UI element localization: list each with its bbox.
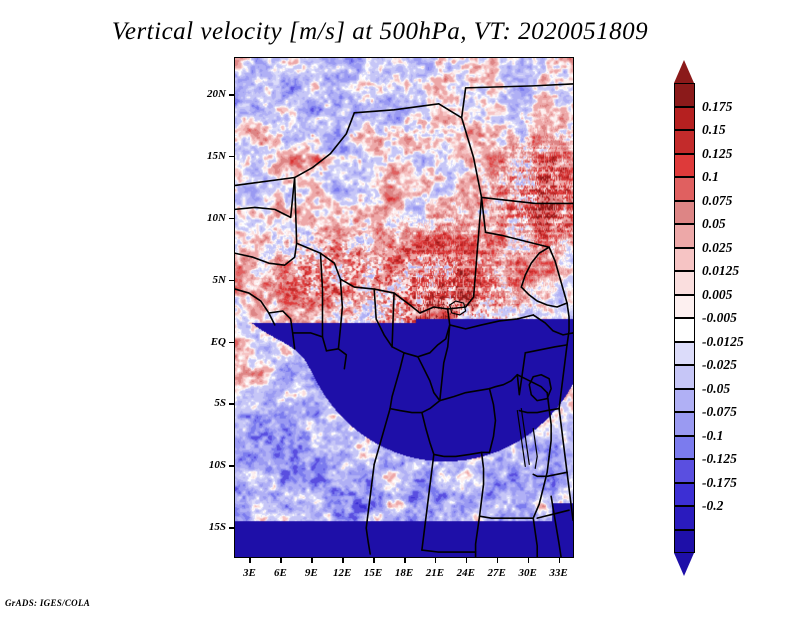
colorbar-band	[674, 318, 695, 342]
lon-tick-mark	[280, 558, 282, 563]
lon-tick-label: 33E	[549, 567, 567, 579]
colorbar-band	[674, 342, 695, 366]
lat-tick-label: 5S	[188, 397, 226, 409]
lat-tick-mark	[229, 94, 234, 96]
colorbar-tick-label: 0.05	[702, 216, 726, 232]
lon-tick-mark	[528, 558, 530, 563]
lat-tick-label: EQ	[188, 336, 226, 348]
colorbar-tick-label: 0.125	[702, 146, 732, 162]
colorbar-tick-label: 0.005	[702, 287, 732, 303]
colorbar-tick-label: 0.1	[702, 169, 719, 185]
lat-tick-label: 20N	[188, 88, 226, 100]
lon-tick-mark	[373, 558, 375, 563]
colorbar-tick-label: -0.175	[702, 475, 737, 491]
colorbar-tick-label: -0.2	[702, 498, 723, 514]
lon-tick-label: 3E	[243, 567, 256, 579]
colorbar-tick-label: 0.075	[702, 193, 732, 209]
lon-tick-mark	[342, 558, 344, 563]
lon-tick-mark	[435, 558, 437, 563]
lon-tick-label: 30E	[518, 567, 536, 579]
colorbar-band	[674, 154, 695, 178]
lon-tick-label: 15E	[364, 567, 382, 579]
lat-tick-mark	[229, 280, 234, 282]
lon-tick-mark	[404, 558, 406, 563]
lat-tick-label: 10N	[188, 212, 226, 224]
colorbar-band	[674, 271, 695, 295]
lat-tick-mark	[229, 465, 234, 467]
lon-tick-label: 24E	[457, 567, 475, 579]
lat-tick-mark	[229, 403, 234, 405]
lon-tick-mark	[311, 558, 313, 563]
lon-tick-mark	[249, 558, 251, 563]
colorbar-band	[674, 459, 695, 483]
lon-tick-mark	[559, 558, 561, 563]
lon-tick-label: 9E	[305, 567, 318, 579]
colorbar-tick-label: 0.0125	[702, 263, 739, 279]
page-title: Vertical velocity [m/s] at 500hPa, VT: 2…	[0, 18, 760, 46]
lon-tick-mark	[497, 558, 499, 563]
lat-tick-mark	[229, 218, 234, 220]
lat-tick-label: 15N	[188, 150, 226, 162]
colorbar-tick-label: -0.05	[702, 381, 730, 397]
colorbar-band	[674, 130, 695, 154]
colorbar-band	[674, 224, 695, 248]
lat-tick-mark	[229, 342, 234, 344]
lon-tick-mark	[466, 558, 468, 563]
colorbar-max-arrow	[674, 60, 694, 83]
lon-tick-label: 21E	[426, 567, 444, 579]
colorbar-band	[674, 530, 695, 554]
lon-tick-label: 12E	[333, 567, 351, 579]
colorbar-tick-label: 0.175	[702, 99, 732, 115]
colorbar-tick-label: -0.025	[702, 357, 737, 373]
lon-tick-label: 18E	[395, 567, 413, 579]
colorbar-band	[674, 248, 695, 272]
map-plot-area	[234, 57, 574, 558]
colorbar-band	[674, 177, 695, 201]
colorbar-band	[674, 412, 695, 436]
colorbar-band	[674, 201, 695, 225]
country-borders-overlay	[235, 58, 573, 557]
colorbar-band	[674, 365, 695, 389]
colorbar-tick-label: 0.15	[702, 122, 726, 138]
lat-tick-mark	[229, 527, 234, 529]
colorbar-tick-label: -0.125	[702, 451, 737, 467]
colorbar-band	[674, 107, 695, 131]
colorbar-band	[674, 436, 695, 460]
grads-credit-text: GrADS: IGES/COLA	[5, 598, 90, 608]
colorbar-tick-label: -0.005	[702, 310, 737, 326]
lat-tick-mark	[229, 156, 234, 158]
colorbar-band	[674, 83, 695, 107]
lon-tick-label: 6E	[274, 567, 287, 579]
colorbar-tick-label: -0.1	[702, 428, 723, 444]
colorbar-tick-label: 0.025	[702, 240, 732, 256]
lon-tick-label: 27E	[488, 567, 506, 579]
colorbar-band	[674, 295, 695, 319]
colorbar-band	[674, 389, 695, 413]
colorbar-tick-label: -0.075	[702, 404, 737, 420]
colorbar-band	[674, 506, 695, 530]
lat-tick-label: 15S	[188, 521, 226, 533]
colorbar-tick-label: -0.0125	[702, 334, 744, 350]
lat-tick-label: 5N	[188, 274, 226, 286]
colorbar-band	[674, 483, 695, 507]
colorbar-min-arrow	[674, 553, 694, 576]
lat-tick-label: 10S	[188, 459, 226, 471]
